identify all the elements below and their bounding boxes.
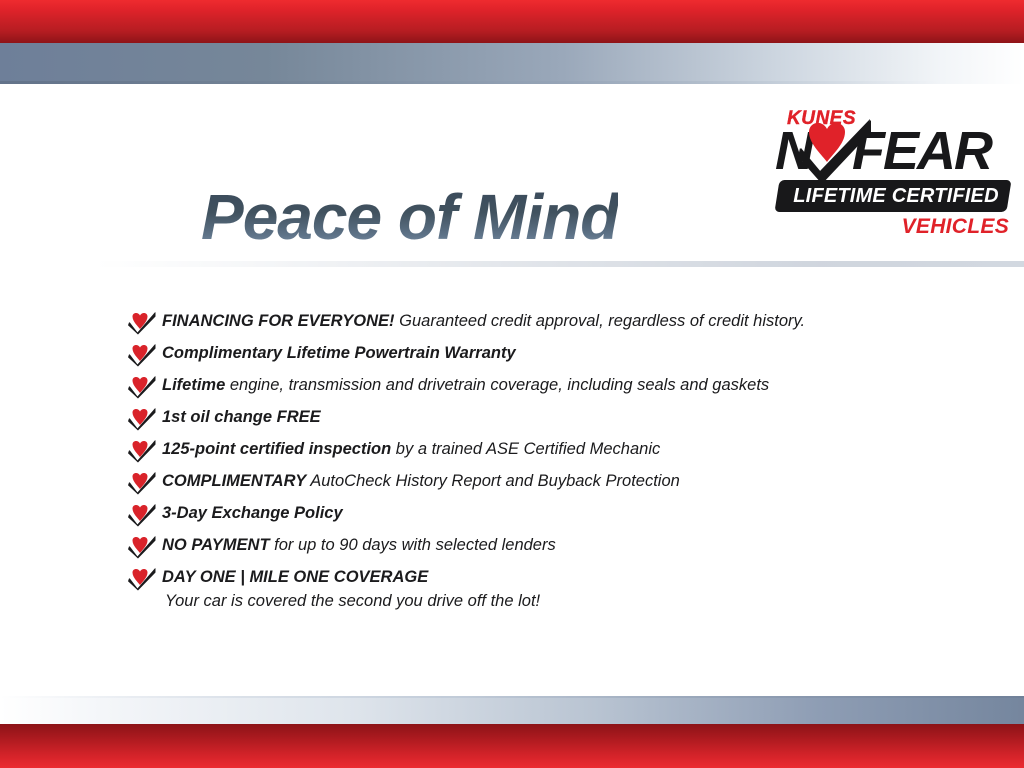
list-item-detail: AutoCheck History Report and Buyback Pro… bbox=[306, 472, 680, 490]
heart-check-icon bbox=[128, 503, 157, 527]
list-item-emphasis: COMPLIMENTARY bbox=[162, 472, 306, 490]
heart-check-icon bbox=[128, 375, 157, 399]
list-item-subtext: Your car is covered the second you drive… bbox=[165, 590, 928, 612]
list-item-9: DAY ONE | MILE ONE COVERAGE Your car is … bbox=[128, 566, 928, 613]
list-item-6: COMPLIMENTARY AutoCheck History Report a… bbox=[128, 470, 928, 502]
list-item-1: FINANCING FOR EVERYONE! Guaranteed credi… bbox=[128, 310, 928, 342]
list-item-text: FINANCING FOR EVERYONE! Guaranteed credi… bbox=[162, 310, 928, 332]
list-item-7: 3-Day Exchange Policy bbox=[128, 502, 928, 534]
list-item-detail: by a trained ASE Certified Mechanic bbox=[391, 440, 660, 458]
bottom-red-band bbox=[0, 724, 1024, 768]
heart-check-icon bbox=[128, 535, 157, 559]
headline-divider bbox=[95, 261, 1024, 267]
list-item-3: Lifetime engine, transmission and drivet… bbox=[128, 374, 928, 406]
list-item-emphasis: 125-point certified inspection bbox=[162, 440, 391, 458]
heart-check-icon bbox=[797, 118, 875, 184]
heart-check-icon bbox=[128, 471, 157, 495]
top-red-band bbox=[0, 0, 1024, 43]
list-item-8: NO PAYMENT for up to 90 days with select… bbox=[128, 534, 928, 566]
list-item-emphasis: 1st oil change FREE bbox=[162, 408, 321, 426]
heart-check-icon bbox=[128, 407, 157, 431]
list-item-emphasis: Complimentary Lifetime Powertrain Warran… bbox=[162, 344, 516, 362]
list-item-emphasis: DAY ONE | MILE ONE COVERAGE bbox=[162, 568, 428, 586]
list-item-detail: engine, transmission and drivetrain cove… bbox=[225, 376, 769, 394]
logo-banner-text: LIFETIME CERTIFIED bbox=[785, 185, 1007, 208]
list-item-text: NO PAYMENT for up to 90 days with select… bbox=[162, 534, 928, 556]
list-item-emphasis: Lifetime bbox=[162, 376, 225, 394]
list-item-text: 1st oil change FREE bbox=[162, 406, 928, 428]
list-item-text: DAY ONE | MILE ONE COVERAGE Your car is … bbox=[162, 566, 928, 613]
headline: Drive off with Peace of Mind bbox=[138, 126, 618, 249]
heart-check-icon bbox=[128, 439, 157, 463]
heart-check-icon bbox=[128, 311, 157, 335]
bottom-gray-band bbox=[0, 696, 1024, 724]
list-item-2: Complimentary Lifetime Powertrain Warran… bbox=[128, 342, 928, 374]
list-item-emphasis: FINANCING FOR EVERYONE! bbox=[162, 312, 395, 330]
headline-line-2: Peace of Mind bbox=[201, 186, 618, 249]
heart-check-icon bbox=[128, 343, 157, 367]
list-item-5: 125-point certified inspection by a trai… bbox=[128, 438, 928, 470]
list-item-text: Complimentary Lifetime Powertrain Warran… bbox=[162, 342, 928, 364]
list-item-detail: Guaranteed credit approval, regardless o… bbox=[395, 312, 806, 330]
list-item-text: COMPLIMENTARY AutoCheck History Report a… bbox=[162, 470, 928, 492]
advertisement-slide: Drive off with Peace of Mind KUNES NFEAR… bbox=[0, 0, 1024, 768]
heart-check-icon bbox=[128, 567, 157, 591]
list-item-4: 1st oil change FREE bbox=[128, 406, 928, 438]
headline-line-1: Drive off with bbox=[138, 126, 618, 182]
list-item-emphasis: 3-Day Exchange Policy bbox=[162, 504, 343, 522]
logo-vehicles-text: VEHICLES bbox=[902, 215, 1009, 239]
kunes-no-fear-logo: KUNES NFEAR LIFETIME CERTIFIED VEHICLES bbox=[775, 108, 1015, 248]
list-item-text: 3-Day Exchange Policy bbox=[162, 502, 928, 524]
list-item-text: 125-point certified inspection by a trai… bbox=[162, 438, 928, 460]
top-gray-band bbox=[0, 43, 1024, 84]
benefits-list: FINANCING FOR EVERYONE! Guaranteed credi… bbox=[128, 310, 928, 613]
list-item-text: Lifetime engine, transmission and drivet… bbox=[162, 374, 928, 396]
list-item-emphasis: NO PAYMENT bbox=[162, 536, 270, 554]
list-item-detail: for up to 90 days with selected lenders bbox=[270, 536, 556, 554]
